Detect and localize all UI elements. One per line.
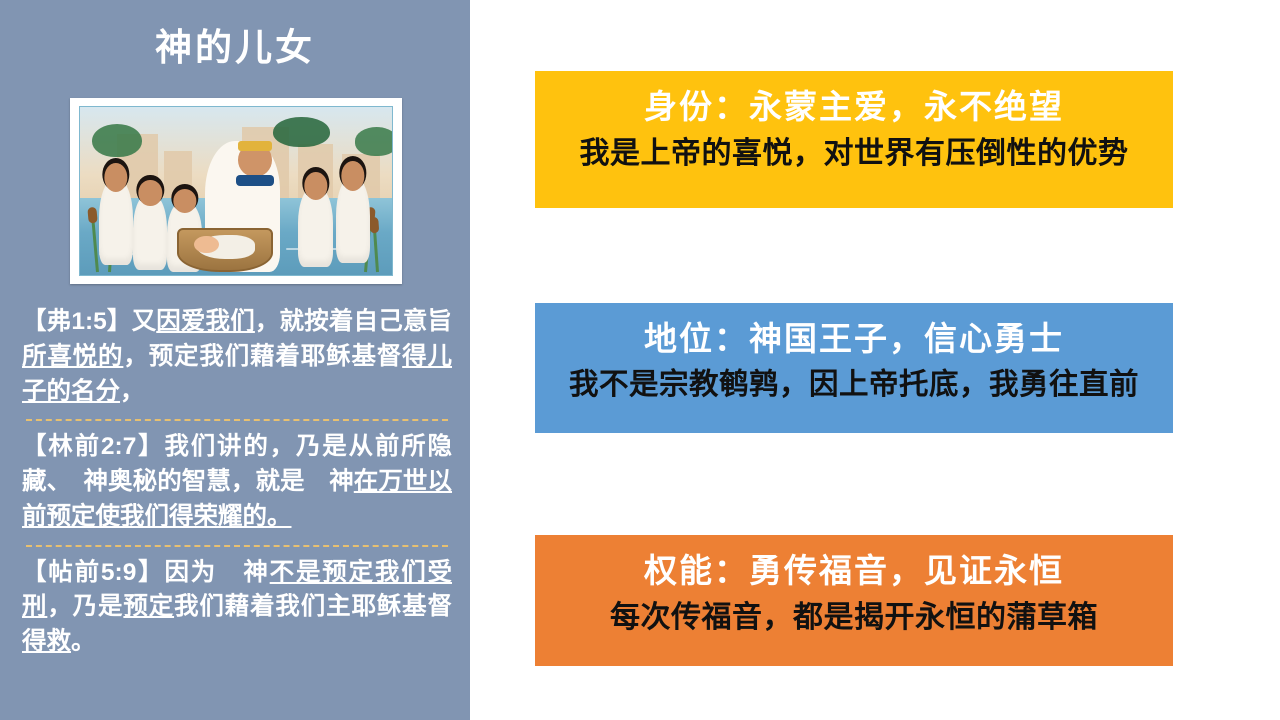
verse-text: ，预定我们藉着耶稣基督 bbox=[123, 343, 402, 370]
panel-power-subtitle: 每次传福音，都是揭开永恒的蒲草箱 bbox=[545, 598, 1163, 637]
slide-canvas: 神的儿女 bbox=[0, 0, 1280, 720]
panel-power: 权能：勇传福音，见证永恒 每次传福音，都是揭开永恒的蒲草箱 bbox=[535, 535, 1173, 666]
verse-text: ，就按着自己意旨 bbox=[255, 308, 452, 335]
verse-text: 。 bbox=[71, 628, 96, 655]
panel-status: 地位：神国王子，信心勇士 我不是宗教鹌鹑，因上帝托底，我勇往直前 bbox=[535, 303, 1173, 433]
verse-reference: 【帖前5:9】 bbox=[22, 559, 164, 586]
panel-identity-title: 身份：永蒙主爱，永不绝望 bbox=[545, 85, 1163, 130]
verse-emphasis: 预定 bbox=[123, 593, 174, 620]
verse-text: 又 bbox=[132, 308, 157, 335]
scripture-verse: 【帖前5:9】因为 神不是预定我们受刑，乃是预定我们藉着我们主耶稣基督得救。 bbox=[22, 556, 452, 660]
verse-text: ，乃是 bbox=[47, 593, 123, 620]
verse-text: ， bbox=[120, 378, 145, 405]
collar-icon bbox=[236, 175, 273, 187]
scripture-list: 【弗1:5】又因爱我们，就按着自己意旨所喜悦的，预定我们藉着耶稣基督得儿子的名分… bbox=[22, 305, 452, 660]
attendant-figure bbox=[298, 186, 332, 267]
scripture-verse: 【弗1:5】又因爱我们，就按着自己意旨所喜悦的，预定我们藉着耶稣基督得儿子的名分… bbox=[22, 305, 452, 409]
palm-tree-icon bbox=[355, 127, 393, 156]
page-title: 神的儿女 bbox=[0, 28, 470, 69]
panel-status-subtitle: 我不是宗教鹌鹑，因上帝托底，我勇往直前 bbox=[545, 366, 1163, 404]
verse-divider bbox=[26, 419, 448, 421]
verse-emphasis: 所喜悦的 bbox=[22, 343, 123, 370]
panel-power-title: 权能：勇传福音，见证永恒 bbox=[545, 549, 1163, 594]
crown-icon bbox=[238, 141, 272, 151]
verse-text: 我们藉着我们主耶稣基督 bbox=[174, 593, 452, 620]
sidebar-panel: 神的儿女 bbox=[0, 0, 470, 720]
verse-reference: 【弗1:5】 bbox=[22, 308, 132, 335]
attendant-figure bbox=[336, 176, 370, 263]
basket-icon bbox=[177, 228, 274, 272]
verse-emphasis: 得救 bbox=[22, 628, 71, 655]
verse-emphasis: 因爱我们 bbox=[156, 308, 255, 335]
verse-text: 因为 神 bbox=[164, 559, 269, 586]
panel-identity-subtitle: 我是上帝的喜悦，对世界有压倒性的优势 bbox=[545, 134, 1163, 173]
palm-tree-icon bbox=[273, 117, 329, 147]
palm-tree-icon bbox=[92, 124, 142, 158]
panel-identity: 身份：永蒙主爱，永不绝望 我是上帝的喜悦，对世界有压倒性的优势 bbox=[535, 71, 1173, 208]
scripture-verse: 【林前2:7】我们讲的，乃是从前所隐藏、 神奥秘的智慧，就是 神在万世以前预定使… bbox=[22, 430, 452, 534]
verse-reference: 【林前2:7】 bbox=[22, 433, 164, 460]
attendant-figure bbox=[133, 193, 167, 270]
illustration-frame bbox=[70, 98, 402, 284]
baby-moses-figure bbox=[197, 235, 254, 260]
attendant-figure bbox=[99, 178, 133, 265]
moses-basket-illustration bbox=[79, 106, 393, 276]
verse-divider bbox=[26, 545, 448, 547]
panel-status-title: 地位：神国王子，信心勇士 bbox=[545, 317, 1163, 362]
